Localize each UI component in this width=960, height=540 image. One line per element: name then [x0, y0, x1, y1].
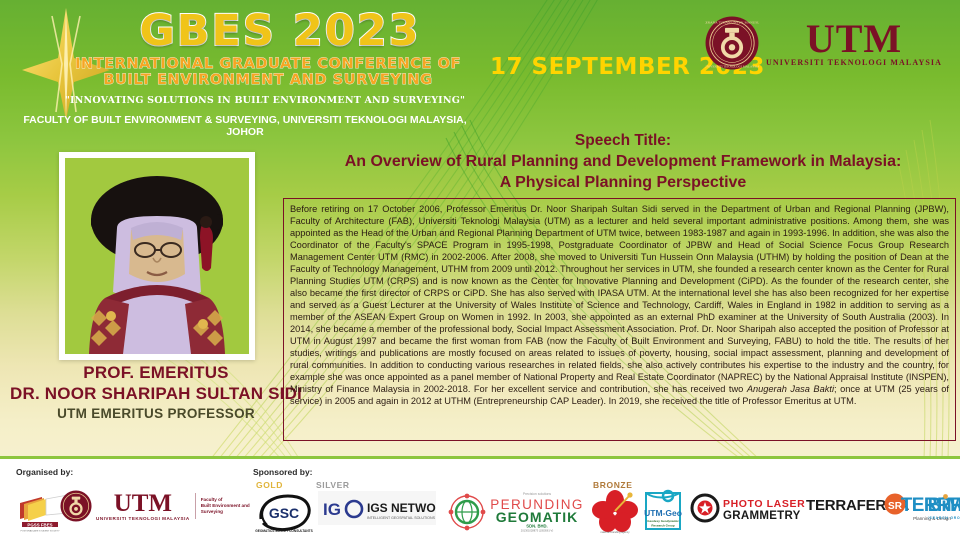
photo-laser-grammetry-logo: PHOTO LASER GRAMMETRY	[690, 493, 810, 523]
svg-text:KERANA TUHAN UNTUK MANUSIA: KERANA TUHAN UNTUK MANUSIA	[705, 21, 759, 25]
gsc-subtext: GEOMATICS SURVEY CONSULTANTS	[255, 529, 312, 533]
hibiscus-subtext: national branding agency	[601, 530, 631, 534]
conference-name-line1: INTERNATIONAL GRADUATE CONFERENCE OF	[48, 56, 488, 72]
pgss-fbes-text: PGSS FBES	[27, 522, 52, 527]
geomatik-subtext: SDN. BHD.	[526, 524, 547, 529]
svg-text:UNIVERSITI TEKNOLOGI MALAYSIA: UNIVERSITI TEKNOLOGI MALAYSIA	[705, 64, 759, 68]
speaker-title-line: PROF. EMERITUS	[0, 362, 312, 383]
igs-network-text: IGS NETWORK	[367, 501, 436, 515]
utm-geo-subtext: Geodesy Geodynamic	[647, 519, 679, 523]
bim-subtext: RESEARCH GROUP	[928, 516, 960, 520]
conference-name: INTERNATIONAL GRADUATE CONFERENCE OF BUI…	[48, 56, 488, 88]
gsc-logo: GSC GEOMATICS SURVEY CONSULTANTS	[253, 491, 315, 535]
speaker-photo-frame	[59, 152, 255, 360]
igs-text: IG	[323, 500, 341, 519]
speaker-biography-box: Before retiring on 17 October 2006, Prof…	[283, 198, 956, 441]
grammetry-text: GRAMMETRY	[723, 510, 801, 522]
sponsored-by-label: Sponsored by:	[253, 467, 313, 477]
event-acronym-title: GBES 2023	[80, 6, 480, 56]
utm-footer-wordmark: UTM	[114, 492, 172, 516]
silver-tier-label: SILVER	[316, 480, 350, 490]
utm-seal-footer-icon	[60, 490, 92, 522]
speaker-name-line: DR. NOOR SHARIPAH SULTAN SIDI	[0, 383, 312, 404]
igs-network-logo: IG IGS NETWORK INTELLIGENT GEOSPATIAL SO…	[318, 491, 436, 525]
organised-by-label: Organised by:	[16, 467, 73, 477]
speaker-name: PROF. EMERITUS DR. NOOR SHARIPAH SULTAN …	[0, 362, 312, 404]
speech-title-line2: A Physical Planning Perspective	[290, 172, 956, 193]
utm-geo-text: UTM-Geo	[644, 508, 682, 518]
utm-wordmark: UTM	[806, 20, 902, 58]
utm-seal-icon: KERANA TUHAN UNTUK MANUSIA UNIVERSITI TE…	[705, 16, 759, 70]
speech-title-line1: An Overview of Rural Planning and Develo…	[290, 151, 956, 172]
perunding-geomatik-logo: Precision solutions PERUNDING GEOMATIK S…	[437, 487, 589, 533]
speaker-portrait-illustration	[65, 158, 249, 354]
utm-header-logo: KERANA TUHAN UNTUK MANUSIA UNIVERSITI TE…	[705, 16, 942, 70]
bim-research-group-logo: BiM RESEARCH GROUP	[928, 489, 960, 529]
biography-italic-award: Anugerah Jasa Bakti	[747, 384, 834, 394]
photo-laser-grammetry-icon: PHOTO LASER GRAMMETRY	[690, 493, 810, 523]
speaker-role: UTM EMERITUS PROFESSOR	[0, 406, 312, 421]
hibiscus-flower-icon: national branding agency	[590, 489, 640, 535]
bim-icon: BiM RESEARCH GROUP	[928, 489, 960, 529]
biography-text: Before retiring on 17 October 2006, Prof…	[290, 204, 949, 394]
geomatik-reg: 201301028873 (1050561-V)	[521, 529, 554, 533]
utm-footer-subtext: UNIVERSITI TEKNOLOGI MALAYSIA	[96, 516, 190, 521]
utm-logo-divider	[195, 493, 196, 519]
gold-tier-label: GOLD	[256, 480, 283, 490]
conference-name-line2: BUILT ENVIRONMENT AND SURVEYING	[48, 72, 488, 88]
gsc-text: GSC	[269, 505, 299, 521]
photo-laser-text: PHOTO LASER	[723, 498, 805, 510]
svg-text:POSTGRADUATE STUDENT SOCIETY: POSTGRADUATE STUDENT SOCIETY	[20, 530, 60, 533]
utm-geo-research-logo: UTM-Geo Geodesy Geodynamic Research Grou…	[638, 487, 688, 535]
gsc-swoosh-icon: GSC GEOMATICS SURVEY CONSULTANTS	[253, 491, 315, 535]
svg-text:Research Group: Research Group	[651, 524, 675, 528]
conference-poster: GBES 2023 INTERNATIONAL GRADUATE CONFERE…	[0, 0, 960, 540]
speech-title-label: Speech Title:	[290, 131, 956, 151]
speech-title-block: Speech Title: An Overview of Rural Plann…	[290, 131, 956, 193]
perunding-tagline: Precision solutions	[523, 492, 552, 496]
speaker-photo	[65, 158, 249, 354]
utm-wordmark-subtext: UNIVERSITI TEKNOLOGI MALAYSIA	[766, 58, 942, 67]
igs-network-icon: IG IGS NETWORK INTELLIGENT GEOSPATIAL SO…	[318, 491, 436, 525]
utm-geo-icon: UTM-Geo Geodesy Geodynamic Research Grou…	[638, 487, 688, 535]
sponsor-footer: Organised by: Sponsored by: GOLD SILVER …	[0, 459, 960, 540]
hibiscus-logo: national branding agency	[590, 489, 640, 535]
utm-footer-logo: UTM UNIVERSITI TEKNOLOGI MALAYSIA Facult…	[60, 490, 263, 522]
conference-tagline: "INNOVATING SOLUTIONS IN BUILT ENVIRONME…	[40, 95, 490, 106]
perunding-geomatik-icon: Precision solutions PERUNDING GEOMATIK S…	[437, 487, 589, 533]
igs-network-subtext: INTELLIGENT GEOSPATIAL SOLUTIONS	[367, 516, 436, 520]
